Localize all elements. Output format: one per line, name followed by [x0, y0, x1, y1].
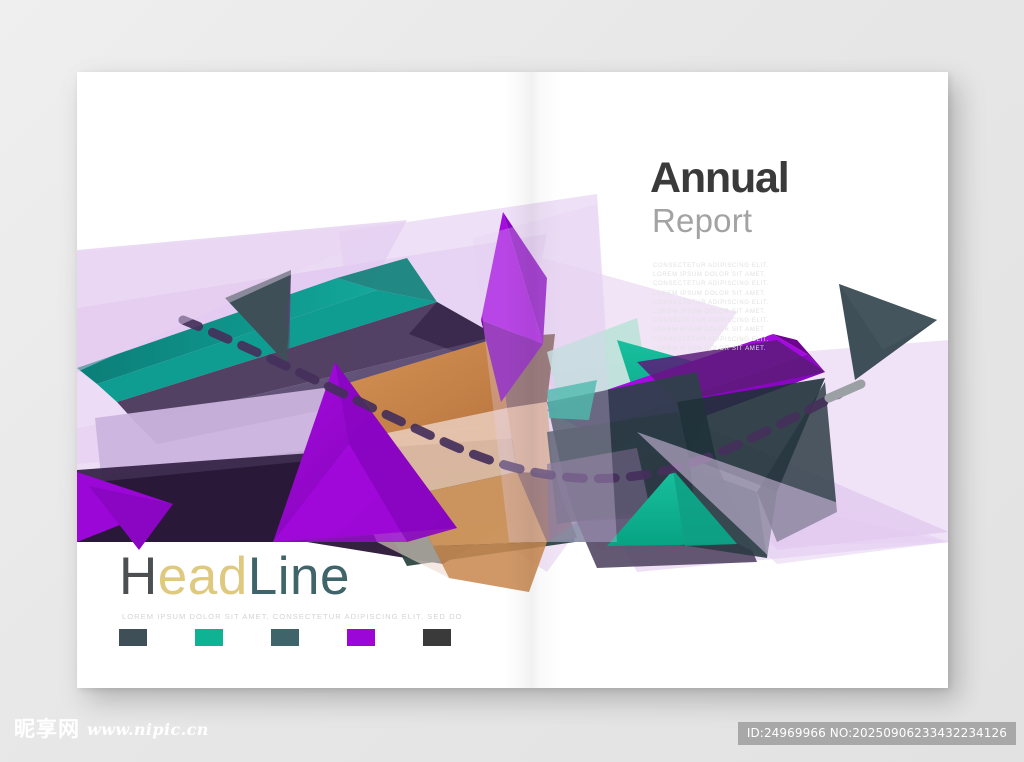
swatch-teal	[195, 629, 223, 646]
image-id-badge: ID:24969966 NO:20250906233432234126	[738, 722, 1016, 745]
swatch-purple	[347, 629, 375, 646]
headline: HeadLine	[119, 550, 519, 603]
left-page-text-block: HeadLine Lorem ipsum dolor sit amet, con…	[119, 550, 519, 621]
headline-tagline: Lorem ipsum dolor sit amet, consectetur …	[122, 612, 519, 621]
swatch-slate	[119, 629, 147, 646]
body-copy-line: LOREM IPSUM DOLOR SIT AMET.	[653, 289, 910, 298]
watermark-brand-cn: 昵享网	[14, 719, 80, 740]
body-copy-line: CONSECTETUR ADIPISCING ELIT.	[653, 298, 910, 307]
page-backdrop: Annual Report CONSECTETUR ADIPISCING ELI…	[0, 0, 1024, 762]
body-copy-line: LOREM IPSUM DOLOR SIT AMET.	[653, 325, 910, 334]
headline-segment-line: Line	[248, 547, 350, 606]
color-swatch-row	[119, 629, 451, 646]
body-copy-line: CONSECTETUR ADIPISCING ELIT.	[653, 261, 910, 270]
swatch-pine	[271, 629, 299, 646]
brochure-spread: Annual Report CONSECTETUR ADIPISCING ELI…	[77, 72, 948, 688]
headline-segment-h: H	[119, 547, 158, 606]
body-copy-line: LOREM IPSUM DOLOR SIT AMET.	[653, 307, 910, 316]
body-copy-line: CONSECTETUR ADIPISCING ELIT.	[653, 316, 910, 325]
body-copy-line: CONSECTETUR ADIPISCING ELIT.	[653, 335, 910, 344]
watermark-brand-url: www.nipic.cn	[87, 722, 209, 738]
swatch-char	[423, 629, 451, 646]
right-page-text-block: Annual Report CONSECTETUR ADIPISCING ELI…	[650, 157, 910, 353]
page-title: Annual	[650, 157, 910, 200]
site-watermark-logo: 昵享网 www.nipic.cn	[14, 719, 209, 740]
body-copy-line: LOREM IPSUM DOLOR SIT AMET.	[653, 270, 910, 279]
body-copy-line: LOREM IPSUM DOLOR SIT AMET.	[653, 344, 910, 353]
body-copy-line: CONSECTETUR ADIPISCING ELIT.	[653, 279, 910, 288]
body-copy-block: CONSECTETUR ADIPISCING ELIT. LOREM IPSUM…	[653, 261, 910, 353]
page-subtitle: Report	[652, 202, 910, 241]
headline-segment-ead: ead	[158, 547, 248, 606]
